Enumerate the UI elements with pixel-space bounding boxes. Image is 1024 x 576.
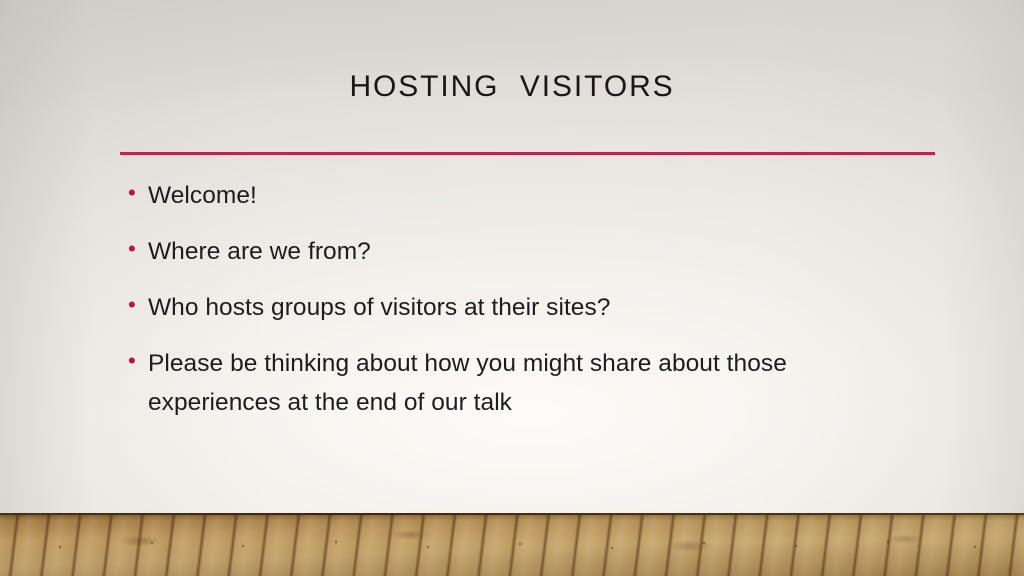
floor-top-edge xyxy=(0,513,1024,515)
bullet-point-icon: • xyxy=(124,344,148,377)
page-title: HOSTING VISITORS xyxy=(0,69,1024,105)
bullet-point-icon: • xyxy=(124,232,148,265)
list-item-label: Who hosts groups of visitors at their si… xyxy=(148,288,924,327)
floor-planks xyxy=(0,513,1024,576)
list-item: • Who hosts groups of visitors at their … xyxy=(124,288,924,327)
bullet-point-icon: • xyxy=(124,288,148,321)
list-item: • Where are we from? xyxy=(124,232,924,271)
title-divider-rule xyxy=(120,152,935,155)
presentation-slide: HOSTING VISITORS • Welcome! • Where are … xyxy=(0,0,1024,576)
list-item-label: Where are we from? xyxy=(148,232,924,271)
list-item: • Please be thinking about how you might… xyxy=(124,344,924,422)
wooden-floor-decoration xyxy=(0,513,1024,576)
list-item-label: Please be thinking about how you might s… xyxy=(148,344,924,422)
bullet-point-icon: • xyxy=(124,176,148,209)
list-item-label: Welcome! xyxy=(148,176,924,215)
list-item: • Welcome! xyxy=(124,176,924,215)
bullet-list: • Welcome! • Where are we from? • Who ho… xyxy=(124,176,924,439)
